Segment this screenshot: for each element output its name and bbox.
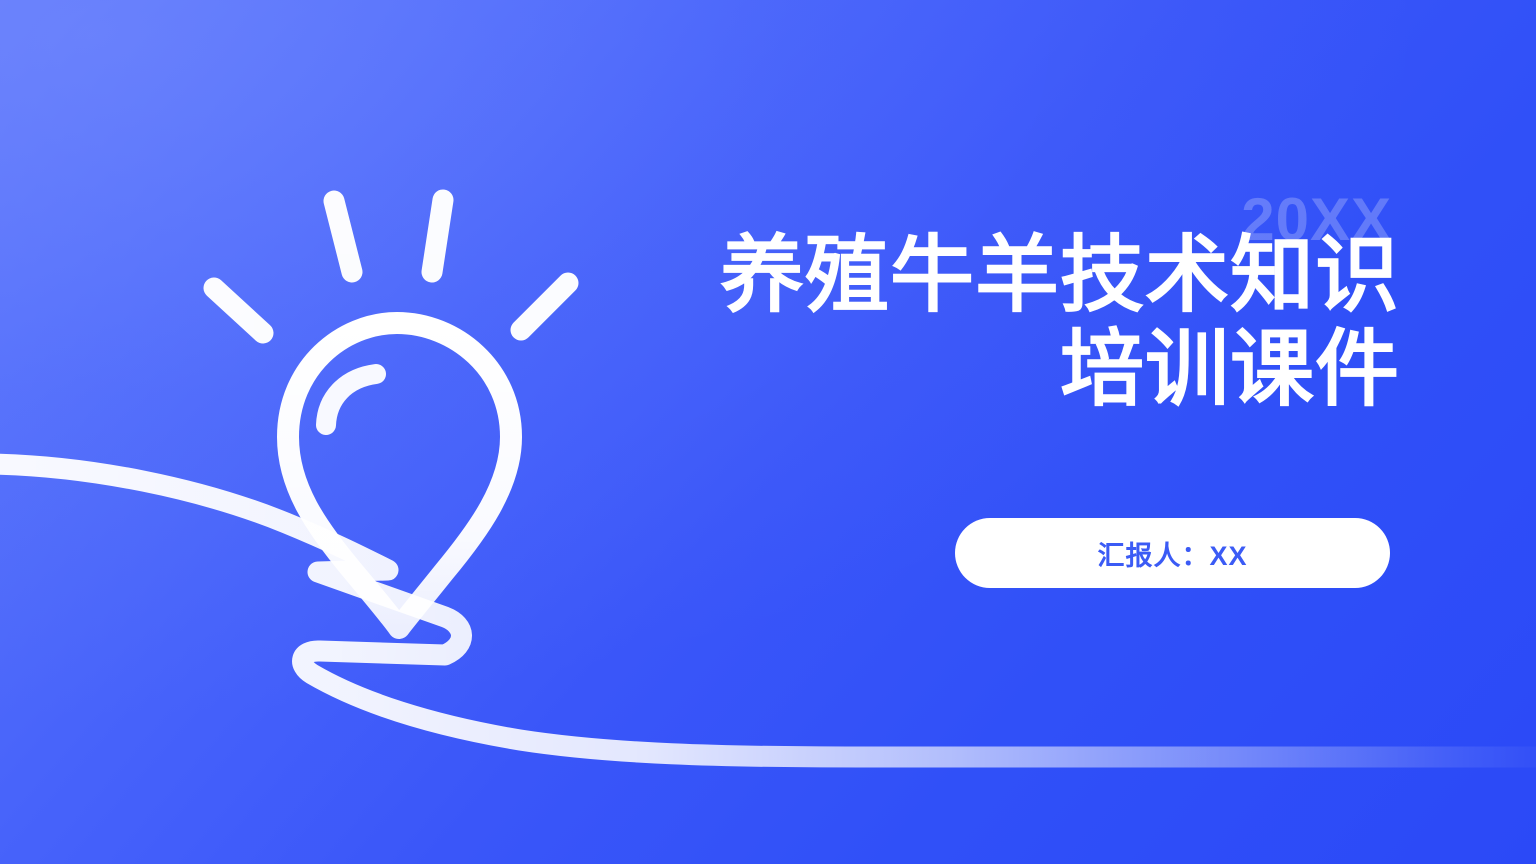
presenter-pill[interactable]: 汇报人：XX: [955, 518, 1390, 588]
ray-right-diagonal-icon: [521, 283, 568, 330]
page-title: 养殖牛羊技术知识 培训课件: [660, 180, 1400, 416]
ray-left-vertical-icon: [334, 201, 352, 272]
ray-left-diagonal-icon: [214, 288, 263, 333]
title-slide: 20XX 养殖牛羊技术知识 培训课件 汇报人：XX: [0, 0, 1536, 864]
lightbulb-line-illustration: [0, 0, 1536, 864]
presenter-label: 汇报人：XX: [1097, 534, 1247, 573]
title-text-block: 20XX 养殖牛羊技术知识 培训课件 汇报人：XX: [660, 180, 1400, 416]
ray-right-vertical-icon: [432, 200, 443, 272]
swoosh-line-icon: [0, 464, 1536, 757]
lightbulb-inner-highlight-icon: [326, 374, 376, 425]
page-title-line-1: 养殖牛羊技术知识: [660, 228, 1400, 322]
page-title-line-2: 培训课件: [660, 322, 1400, 416]
